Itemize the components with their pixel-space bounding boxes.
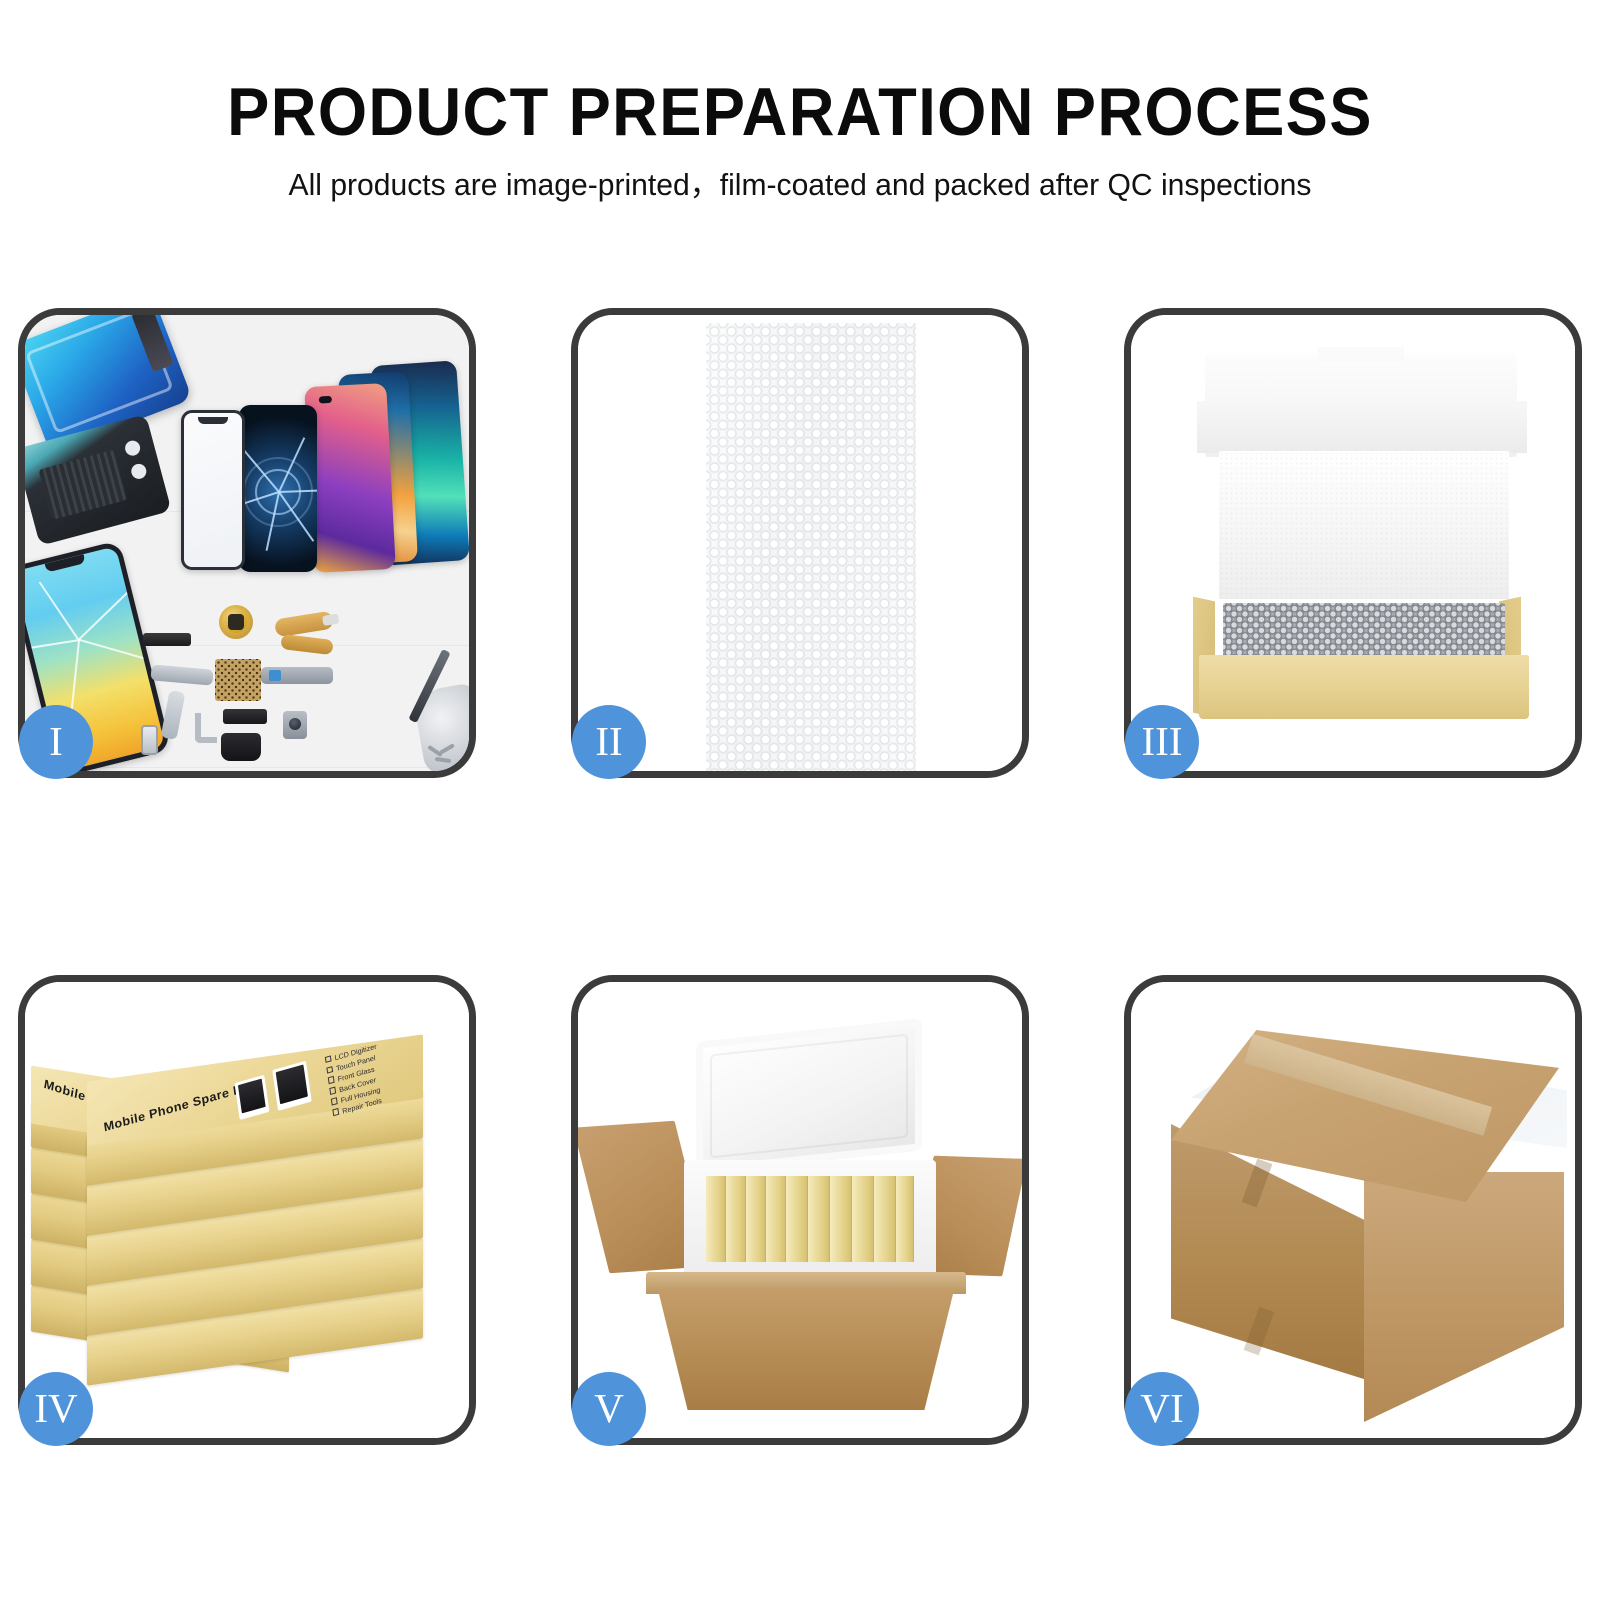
- header: PRODUCT PREPARATION PROCESS All products…: [0, 0, 1600, 202]
- bracket-bar-part: [143, 633, 191, 646]
- bubble-wrap-padding: [1223, 603, 1505, 659]
- speaker-part: [221, 733, 261, 761]
- step-panel-4[interactable]: Mobile Phone Spare Parts LCD Digitizer T…: [18, 975, 476, 1445]
- box-lid: [1205, 353, 1517, 457]
- step-5-image: [578, 982, 1022, 1438]
- metal-bracket-part: [195, 713, 217, 743]
- step-numeral-1: I: [49, 721, 63, 762]
- taptic-coil-part: [219, 605, 253, 639]
- step-panel-6[interactable]: VI: [1124, 975, 1582, 1445]
- step-badge-4: IV: [19, 1372, 93, 1446]
- step-numeral-3: III: [1142, 721, 1183, 762]
- cracked-display: [239, 405, 317, 572]
- step-panel-1[interactable]: I: [18, 308, 476, 778]
- gold-box-stack-front: Mobile Phone Spare Parts LCD Digitizer T…: [87, 1044, 423, 1408]
- bubble-wrap-sleeve: [706, 323, 916, 771]
- step-numeral-2: II: [595, 721, 622, 762]
- step-panel-2[interactable]: II: [571, 308, 1029, 778]
- step-numeral-4: IV: [34, 1388, 77, 1429]
- box-thumbnail-front-2: [272, 1061, 312, 1111]
- step-badge-3: III: [1125, 705, 1199, 779]
- step-panel-5[interactable]: V: [571, 975, 1029, 1445]
- flex-cable-b: [280, 634, 333, 655]
- step-numeral-5: V: [594, 1388, 624, 1429]
- phone-purple: [304, 383, 396, 573]
- step-3-image: [1131, 315, 1575, 771]
- flex-cable-d: [150, 664, 213, 685]
- battery-connector-part: [223, 709, 267, 724]
- sealed-carton-right-face: [1364, 1172, 1564, 1422]
- kraft-tray-front: [1199, 655, 1529, 719]
- foam-box-lid: [696, 1018, 922, 1174]
- box-thumbnail-front-1: [235, 1075, 270, 1120]
- carton-body: [658, 1290, 954, 1410]
- page-title: PRODUCT PREPARATION PROCESS: [56, 78, 1544, 146]
- camera-module-part: [283, 711, 307, 739]
- step-badge-6: VI: [1125, 1372, 1199, 1446]
- gold-boxes-inside: [706, 1176, 914, 1262]
- ic-chip-part: [215, 659, 261, 701]
- flex-cable-a: [274, 611, 334, 638]
- product-preparation-infographic: PRODUCT PREPARATION PROCESS All products…: [0, 0, 1600, 1600]
- step-4-image: Mobile Phone Spare Parts LCD Digitizer T…: [25, 982, 469, 1438]
- step-2-image: [578, 315, 1022, 771]
- flex-cable-c: [261, 667, 333, 684]
- sim-tray-part: [141, 725, 158, 755]
- screws-part: [427, 745, 465, 767]
- foam-sheet: [1219, 451, 1509, 599]
- step-numeral-6: VI: [1140, 1388, 1183, 1429]
- step-6-image: [1131, 982, 1575, 1438]
- screen-protector-glass: [181, 410, 245, 570]
- steps-grid: I II: [18, 308, 1582, 1445]
- step-badge-5: V: [572, 1372, 646, 1446]
- page-subtitle: All products are image-printed，film-coat…: [24, 168, 1576, 202]
- step-badge-1: I: [19, 705, 93, 779]
- step-badge-2: II: [572, 705, 646, 779]
- flex-cable-e: [161, 690, 186, 740]
- step-1-image: [25, 315, 469, 771]
- step-panel-3[interactable]: III: [1124, 308, 1582, 778]
